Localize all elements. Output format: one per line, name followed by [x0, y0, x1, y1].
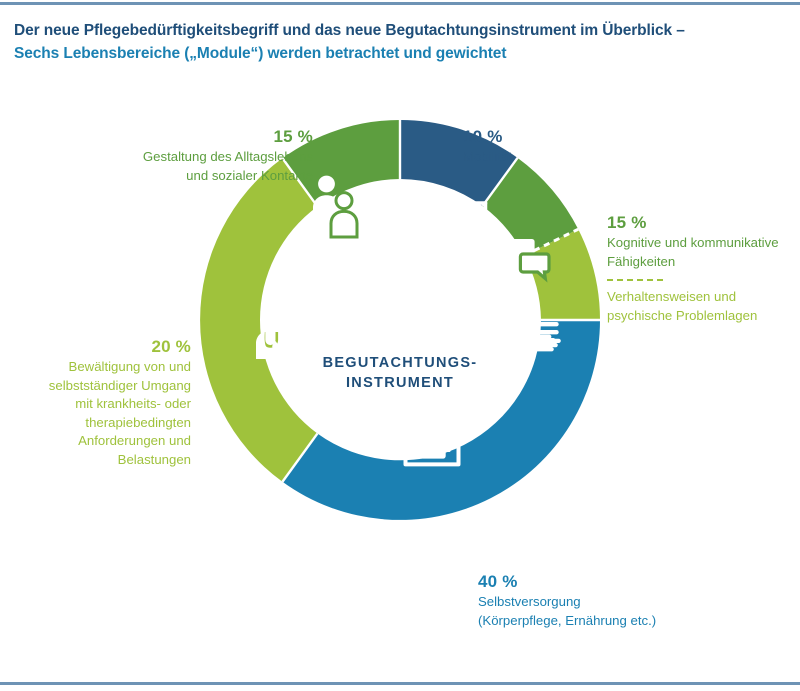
callout-description-line: Fähigkeiten: [607, 253, 800, 272]
callout-description-line: Selbstversorgung: [478, 593, 778, 612]
callout-mobilitaet: 10 % Mobilität: [463, 125, 663, 167]
callout-bewaeltigung: 20 % Bewältigung von und selbstständiger…: [8, 335, 191, 469]
callout-percent: 15 %: [68, 125, 313, 148]
bottom-divider-rule: [0, 682, 800, 685]
page-title-line-2: Sechs Lebensbereiche („Module“) werden b…: [14, 42, 774, 65]
callout-description-line: Anforderungen und: [8, 432, 191, 451]
donut-chart-area: BEGUTACHTUNGS- INSTRUMENT 15 % Gestaltun…: [0, 95, 800, 655]
callout-description-line: Bewältigung von und: [8, 358, 191, 377]
callout-description: Mobilität: [463, 148, 663, 167]
callout-description-line: und sozialer Kontakte: [68, 167, 313, 186]
callout-percent: 10 %: [463, 125, 663, 148]
callout-gestaltung-alltag: 15 % Gestaltung des Alltagslebens und so…: [68, 125, 313, 185]
callout-kognitive-faehigkeiten: 15 % Kognitive und kommunikative Fähigke…: [607, 211, 800, 325]
callout-description-line: Belastungen: [8, 451, 191, 470]
callout-description: Gestaltung des Alltagslebens und soziale…: [68, 148, 313, 185]
donut-slice-bewaeltigung[interactable]: [200, 158, 317, 482]
callout-description-line: psychische Problemlagen: [607, 307, 800, 326]
callout-description: Selbstversorgung (Körperpflege, Ernährun…: [478, 593, 778, 630]
top-divider-rule: [0, 2, 800, 5]
callout-description-line: therapiebedingten: [8, 414, 191, 433]
callout-percent: 40 %: [478, 570, 778, 593]
callout-description-line: Verhaltensweisen und: [607, 288, 800, 307]
page-title-line-1: Der neue Pflegebedürftigkeitsbegriff und…: [14, 19, 774, 42]
callout-selbstversorgung: 40 % Selbstversorgung (Körperpflege, Ern…: [478, 570, 778, 630]
page-title: Der neue Pflegebedürftigkeitsbegriff und…: [14, 19, 774, 65]
callout-percent: 20 %: [8, 335, 191, 358]
dashed-separator: [607, 279, 663, 281]
callout-description: Kognitive und kommunikative Fähigkeiten: [607, 234, 800, 271]
callout-description-line: Kognitive und kommunikative: [607, 234, 800, 253]
callout-description-line: Mobilität: [463, 148, 663, 167]
callout-description-line: mit krankheits- oder: [8, 395, 191, 414]
callout-percent: 15 %: [607, 211, 800, 234]
callout-description-secondary: Verhaltensweisen und psychische Probleml…: [607, 288, 800, 325]
callout-description-line: Gestaltung des Alltagslebens: [68, 148, 313, 167]
doctor-patient-icon: [256, 304, 311, 359]
infographic-page: Der neue Pflegebedürftigkeitsbegriff und…: [0, 0, 800, 691]
callout-description-line: selbstständiger Umgang: [8, 377, 191, 396]
callout-description: Bewältigung von und selbstständiger Umga…: [8, 358, 191, 469]
callout-description-line: (Körperpflege, Ernährung etc.): [478, 612, 778, 631]
